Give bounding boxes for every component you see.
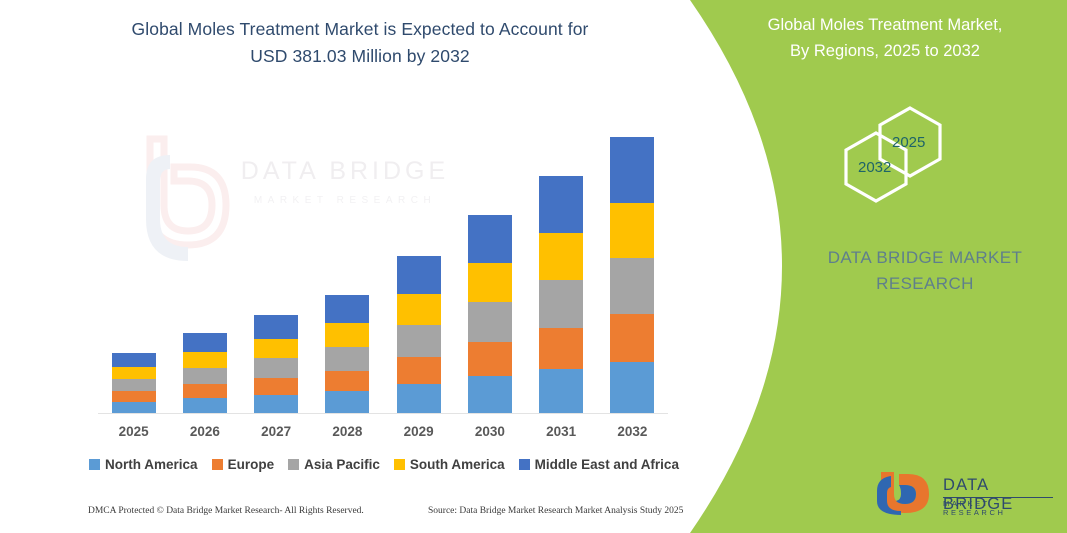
bar-segment[interactable] [183, 368, 227, 384]
footer: DMCA Protected © Data Bridge Market Rese… [0, 506, 700, 526]
stacked-bar[interactable] [254, 315, 298, 413]
bar-segment[interactable] [468, 302, 512, 342]
footer-copyright: DMCA Protected © Data Bridge Market Rese… [88, 506, 364, 516]
bar-segment[interactable] [397, 357, 441, 384]
bar-segment[interactable] [254, 315, 298, 338]
stacked-bar[interactable] [397, 256, 441, 413]
bar-segment[interactable] [468, 215, 512, 262]
x-axis-label: 2030 [454, 420, 525, 444]
bar-segment[interactable] [112, 379, 156, 391]
chart-title-line2: USD 381.03 Million by 2032 [250, 46, 470, 66]
logo-divider [943, 497, 1053, 498]
logo: DATA BRIDGE MARKET RESEARCH [875, 470, 1055, 518]
bar-segment[interactable] [610, 314, 654, 362]
bar-segment[interactable] [468, 263, 512, 303]
bar-segment[interactable] [397, 384, 441, 413]
bar-segment[interactable] [183, 398, 227, 413]
bar-segment[interactable] [539, 176, 583, 233]
bar-column [241, 100, 312, 413]
bar-segment[interactable] [610, 258, 654, 313]
legend-label: Middle East and Africa [535, 457, 679, 472]
hexagon-badge-2032-label: 2032 [858, 159, 891, 176]
legend-item[interactable]: North America [89, 457, 198, 472]
legend-item[interactable]: Asia Pacific [288, 457, 380, 472]
legend-swatch [212, 459, 223, 470]
bar-segment[interactable] [325, 391, 369, 413]
bar-segment[interactable] [397, 256, 441, 294]
bar-segment[interactable] [183, 384, 227, 398]
chart-title-line1: Global Moles Treatment Market is Expecte… [132, 19, 589, 39]
bar-segment[interactable] [254, 395, 298, 413]
bar-segment[interactable] [397, 325, 441, 356]
chart-title: Global Moles Treatment Market is Expecte… [60, 16, 660, 70]
hexagon-badge-2025-label: 2025 [892, 134, 925, 151]
bar-segment[interactable] [325, 371, 369, 392]
bar-column [169, 100, 240, 413]
brand-line1: DATA BRIDGE MARKET [828, 248, 1023, 267]
bar-segment[interactable] [610, 137, 654, 203]
stacked-bar[interactable] [325, 295, 369, 413]
bar-segment[interactable] [610, 362, 654, 413]
green-title-line2: By Regions, 2025 to 2032 [790, 42, 980, 60]
x-axis-label: 2026 [169, 420, 240, 444]
bar-segment[interactable] [468, 376, 512, 413]
bar-segment[interactable] [397, 294, 441, 325]
stacked-bar[interactable] [112, 353, 156, 413]
bar-segment[interactable] [183, 333, 227, 352]
bar-segment[interactable] [468, 342, 512, 377]
bar-segment[interactable] [112, 402, 156, 413]
x-axis-label: 2031 [526, 420, 597, 444]
bar-segment[interactable] [325, 347, 369, 371]
bar-segment[interactable] [254, 378, 298, 395]
x-axis-label: 2028 [312, 420, 383, 444]
footer-source: Source: Data Bridge Market Research Mark… [428, 506, 683, 516]
stacked-bar[interactable] [539, 176, 583, 413]
bar-segment[interactable] [539, 369, 583, 413]
legend-label: South America [410, 457, 505, 472]
legend-item[interactable]: Middle East and Africa [519, 457, 679, 472]
legend-swatch [394, 459, 405, 470]
stacked-bar[interactable] [183, 333, 227, 413]
bar-segment[interactable] [539, 328, 583, 370]
green-panel-title: Global Moles Treatment Market, By Region… [720, 12, 1050, 64]
logo-subtitle: MARKET RESEARCH [943, 499, 1055, 517]
bar-segment[interactable] [112, 353, 156, 367]
legend-label: North America [105, 457, 198, 472]
bar-segment[interactable] [112, 391, 156, 402]
legend-swatch [89, 459, 100, 470]
bar-segment[interactable] [610, 203, 654, 258]
legend-label: Asia Pacific [304, 457, 380, 472]
bar-segment[interactable] [254, 339, 298, 359]
bar-segment[interactable] [539, 280, 583, 327]
chart-legend: North AmericaEuropeAsia PacificSouth Ame… [98, 452, 670, 476]
bar-column [526, 100, 597, 413]
bar-column [312, 100, 383, 413]
stacked-bar[interactable] [468, 215, 512, 413]
chart-panel: Global Moles Treatment Market is Expecte… [0, 0, 700, 533]
bar-column [597, 100, 668, 413]
brand-text: DATA BRIDGE MARKET RESEARCH [790, 245, 1060, 297]
bar-segment[interactable] [325, 295, 369, 323]
legend-swatch [288, 459, 299, 470]
x-axis-labels: 20252026202720282029203020312032 [98, 420, 668, 444]
legend-swatch [519, 459, 530, 470]
x-axis-label: 2029 [383, 420, 454, 444]
x-axis-label: 2032 [597, 420, 668, 444]
bar-segment[interactable] [325, 323, 369, 347]
x-axis-label: 2027 [241, 420, 312, 444]
x-axis-label: 2025 [98, 420, 169, 444]
legend-item[interactable]: Europe [212, 457, 275, 472]
stacked-bar[interactable] [610, 137, 654, 413]
hexagon-badges: 2025 2032 [820, 95, 1000, 205]
bar-group [98, 100, 668, 413]
green-title-line1: Global Moles Treatment Market, [768, 16, 1003, 34]
legend-item[interactable]: South America [394, 457, 505, 472]
bar-segment[interactable] [539, 233, 583, 280]
bar-column [454, 100, 525, 413]
bar-segment[interactable] [112, 367, 156, 379]
db-logo-icon [875, 470, 935, 516]
bar-column [98, 100, 169, 413]
bar-segment[interactable] [183, 352, 227, 368]
bar-column [383, 100, 454, 413]
brand-line2: RESEARCH [876, 274, 974, 293]
bar-segment[interactable] [254, 358, 298, 378]
infographic-root: Global Moles Treatment Market is Expecte… [0, 0, 1067, 533]
legend-label: Europe [228, 457, 275, 472]
